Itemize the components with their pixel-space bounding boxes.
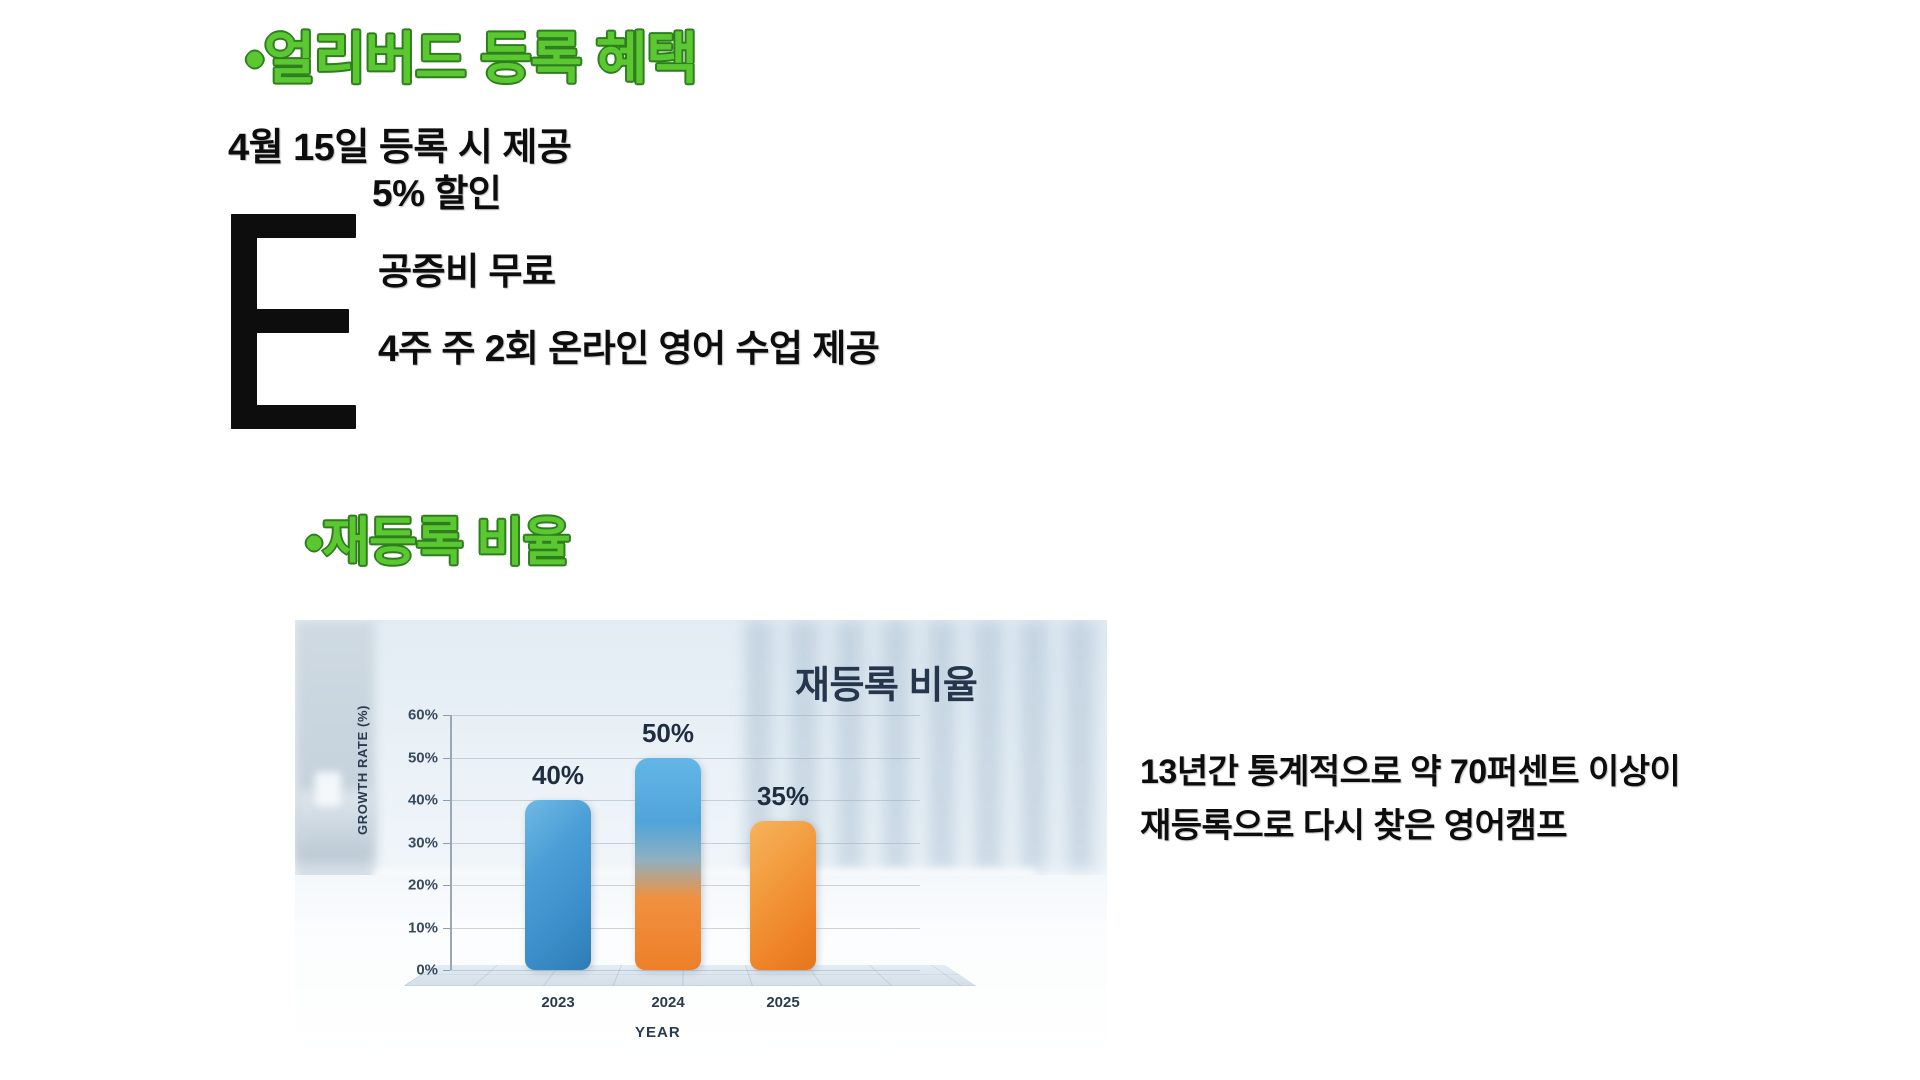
chart-y-tick — [443, 928, 450, 929]
bracket-group-icon — [231, 214, 356, 429]
chart-y-tick-label: 40% — [408, 792, 438, 809]
chart-y-tick-label: 30% — [408, 834, 438, 851]
chart-y-tick — [443, 970, 450, 971]
benefit-item-notary-fee: 공증비 무료 — [378, 241, 555, 295]
bracket-arm-bottom — [231, 405, 356, 429]
chart-y-axis-label: GROWTH RATE (%) — [355, 705, 370, 835]
chart-photo-image: 재등록 비율 GROWTH RATE (%) 60%50%40%30%20%10… — [295, 620, 1107, 1060]
chart-x-tick-label: 2024 — [651, 994, 684, 1011]
chart-bar-value-label: 40% — [532, 760, 584, 791]
heading-reenrollment-rate: •재등록 비율 — [305, 500, 570, 575]
chart-bar-value-label: 50% — [642, 718, 694, 749]
chart-y-tick — [443, 715, 450, 716]
benefit-item-online-classes: 4주 주 2회 온라인 영어 수업 제공 — [378, 318, 879, 372]
heading-early-bird-benefits: •얼리버드 등록 혜택 — [245, 14, 697, 95]
bracket-arm-middle — [231, 309, 349, 333]
chart-gridline — [450, 970, 920, 971]
chart-bar: 35% — [750, 821, 816, 970]
benefit-item-discount: 5% 할인 — [372, 163, 501, 217]
chart-y-tick — [443, 800, 450, 801]
caption-statistics-line-1: 13년간 통계적으로 약 70퍼센트 이상이 — [1140, 744, 1680, 793]
chart-bar-value-label: 35% — [757, 781, 809, 812]
chart-title: 재등록 비율 — [795, 654, 977, 709]
chart-y-tick-label: 10% — [408, 919, 438, 936]
bracket-arm-top — [231, 214, 356, 238]
chart-y-tick-label: 50% — [408, 749, 438, 766]
chart-y-tick-label: 20% — [408, 877, 438, 894]
chart-x-tick-label: 2023 — [541, 994, 574, 1011]
chart-plot-area: 60%50%40%30%20%10%0% 40%50%35% — [450, 715, 920, 970]
chart-x-axis-label: YEAR — [635, 1024, 681, 1041]
cup — [315, 772, 341, 806]
chart-y-tick-label: 0% — [416, 962, 438, 979]
chart-y-tick — [443, 843, 450, 844]
chart-bar: 50% — [635, 758, 701, 971]
chart-bar: 40% — [525, 800, 591, 970]
chart-x-tick-label: 2025 — [766, 994, 799, 1011]
chart-y-tick — [443, 758, 450, 759]
chart-y-tick — [443, 885, 450, 886]
chart-gridline — [450, 715, 920, 716]
slide-canvas: •얼리버드 등록 혜택 4월 15일 등록 시 제공 5% 할인 공증비 무료 … — [0, 0, 1920, 1080]
caption-statistics-line-2: 재등록으로 다시 찾은 영어캠프 — [1140, 798, 1567, 847]
chart-y-tick-label: 60% — [408, 707, 438, 724]
